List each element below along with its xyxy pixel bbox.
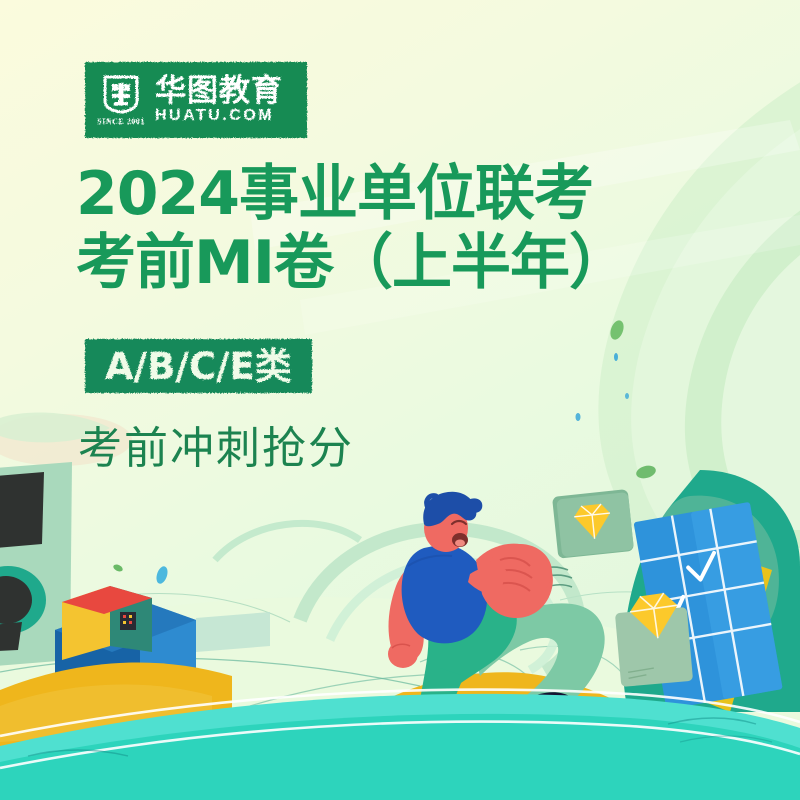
headline: 2024事业单位联考 考前MI卷（上半年） <box>76 160 756 298</box>
logo-since-text: SINCE 2001 <box>97 117 144 126</box>
logo-brand-cn: 华图教育 <box>155 75 283 108</box>
promo-poster: SINCE 2001 华图教育 HUATU.COM 2024事业单位联考 考前M… <box>0 0 800 800</box>
brand-logo: SINCE 2001 华图教育 HUATU.COM <box>85 62 307 138</box>
logo-wordmark: 华图教育 HUATU.COM <box>155 75 283 125</box>
category-badge-label: A/B/C/E类 <box>105 348 292 385</box>
headline-line-2: 考前MI卷（上半年） <box>76 229 756 298</box>
subtitle: 考前冲刺抢分 <box>78 412 354 476</box>
logo-mark: SINCE 2001 <box>95 74 147 126</box>
category-badge: A/B/C/E类 <box>85 339 312 393</box>
logo-brand-domain: HUATU.COM <box>155 107 283 125</box>
shield-icon <box>101 74 141 114</box>
headline-line-1: 2024事业单位联考 <box>76 160 756 229</box>
